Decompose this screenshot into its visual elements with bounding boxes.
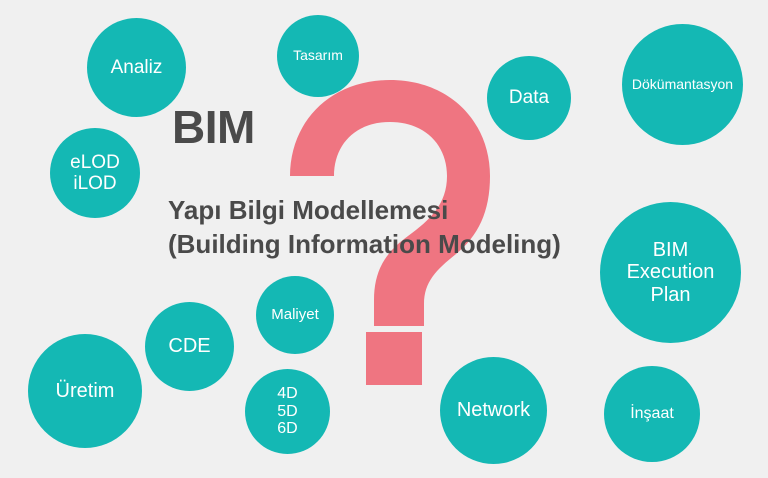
bubble-elod-ilod[interactable]: eLOD iLOD [50,128,140,218]
bubble-network[interactable]: Network [440,357,547,464]
bubble-label: Maliyet [267,307,323,324]
bubble-label: CDE [164,335,214,357]
bubble-label: Data [505,87,553,108]
bubble-label: Dökümantasyon [628,77,737,93]
bubble-data[interactable]: Data [487,56,571,140]
bubble-label: 4D 5D 6D [273,385,301,439]
bubble-4d-5d-6d[interactable]: 4D 5D 6D [245,369,330,454]
bubble-insaat[interactable]: İnşaat [604,366,700,462]
subtitle-line-2: (Building Information Modeling) [168,227,598,261]
subtitle-line-1: Yapı Bilgi Modellemesi [168,193,598,227]
bubble-label: İnşaat [626,405,678,423]
bubble-cde[interactable]: CDE [145,302,234,391]
subtitle-block: Yapı Bilgi Modellemesi (Building Informa… [168,193,598,262]
page-title: BIM [172,100,255,154]
bubble-uretim[interactable]: Üretim [28,334,142,448]
bubble-label: Network [453,399,534,421]
infographic-canvas: AnalizTasarımDataDökümantasyoneLOD iLODB… [0,0,768,478]
bubble-label: Tasarım [289,48,347,64]
bubble-label: eLOD iLOD [66,152,124,195]
bubble-label: Üretim [52,380,119,402]
bubble-maliyet[interactable]: Maliyet [256,276,334,354]
bubble-dokumantasyon[interactable]: Dökümantasyon [622,24,743,145]
bubble-label: Analiz [107,57,167,78]
bubble-tasarim[interactable]: Tasarım [277,15,359,97]
bubble-bim-execution-plan[interactable]: BIM Execution Plan [600,202,741,343]
bubble-label: BIM Execution Plan [600,239,741,306]
